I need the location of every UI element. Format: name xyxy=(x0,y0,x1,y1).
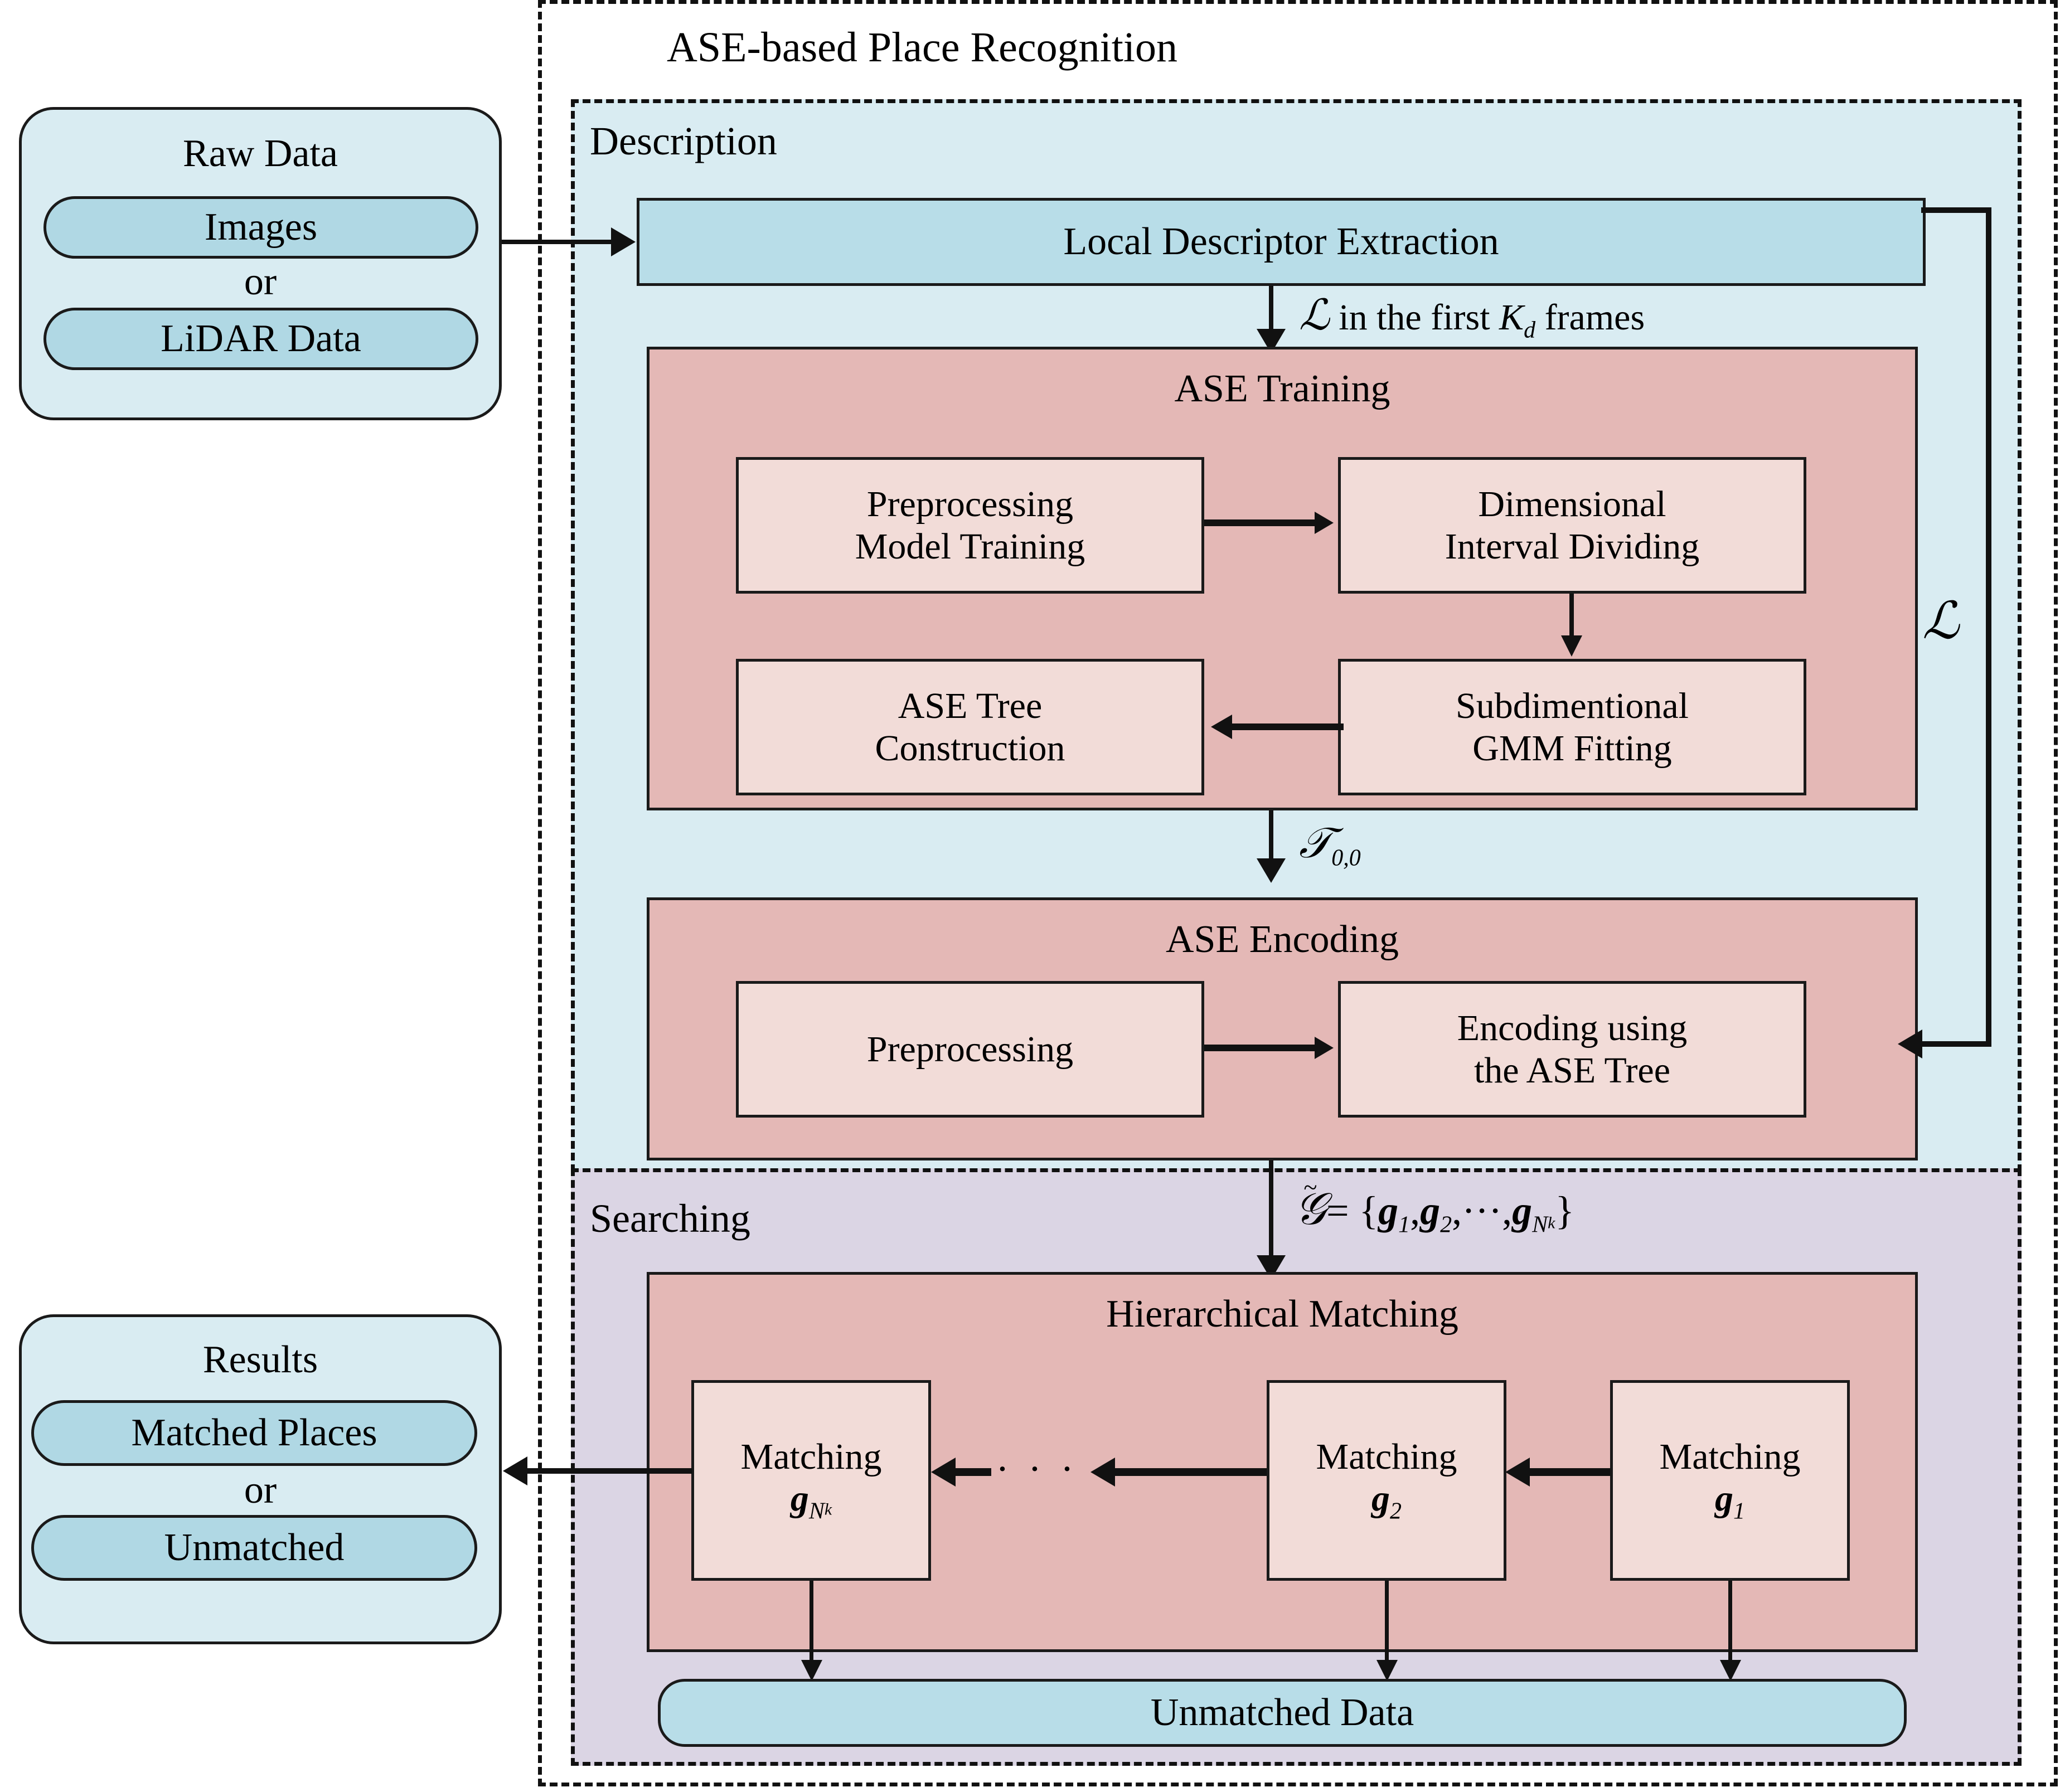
searching-panel-label: Searching xyxy=(590,1196,980,1251)
edge-ellipsis-to-gnk xyxy=(956,1468,991,1476)
edge-g2-to-unmatched xyxy=(1385,1581,1389,1670)
training-step-subdimentional-gmm-fitting[interactable]: Subdimentional GMM Fitting xyxy=(1338,659,1806,795)
raw-data-or-label: or xyxy=(19,261,502,303)
edge-training-to-encoding-arrowhead xyxy=(1257,858,1286,883)
edge-rawdata-to-lde xyxy=(502,240,612,244)
results-unmatched-pill: Unmatched xyxy=(31,1515,477,1581)
edge-label-descriptors-first-frames: ℒ in the first Kd frames xyxy=(1299,290,1645,344)
edge-lde-feedback-right xyxy=(1986,207,1991,1046)
page-title: ASE-based Place Recognition xyxy=(571,17,1273,78)
edge-g2-to-ellipsis xyxy=(1115,1468,1267,1476)
results-title: Results xyxy=(19,1333,502,1387)
edge-lde-feedback-top xyxy=(1921,207,1991,213)
edge-label-descriptors-feedback: ℒ xyxy=(1922,591,1959,650)
matching-ellipsis: · · · xyxy=(987,1444,1087,1494)
diagram-canvas: ASE-based Place Recognition Description … xyxy=(0,0,2060,1792)
matching-node-g2[interactable]: Matching g2 xyxy=(1267,1380,1506,1581)
local-descriptor-extraction-box[interactable]: Local Descriptor Extraction xyxy=(637,198,1926,286)
edge-training-1-to-2 xyxy=(1204,519,1316,526)
edge-encoding-1-to-2-arrowhead xyxy=(1315,1037,1334,1059)
edge-encoding-1-to-2 xyxy=(1204,1045,1316,1051)
edge-g1-to-unmatched-arrowhead xyxy=(1720,1660,1741,1681)
description-panel-label: Description xyxy=(590,118,980,174)
edge-matching-to-results xyxy=(527,1468,692,1474)
edge-ellipsis-to-gnk-arrowhead xyxy=(931,1458,956,1487)
results-matched-places-pill: Matched Places xyxy=(31,1400,477,1466)
edge-training-2-to-3-arrowhead xyxy=(1561,635,1582,657)
training-step-dimensional-interval-dividing[interactable]: Dimensional Interval Dividing xyxy=(1338,457,1806,594)
matching-node-gnk[interactable]: Matching gNk xyxy=(691,1380,931,1581)
script-G-icon: ~𝒢 xyxy=(1295,1184,1326,1235)
edge-lde-feedback-bottom xyxy=(1922,1041,1991,1047)
edge-label-global-descriptor-set: ~𝒢= {g1,g2,···,gNk} xyxy=(1295,1184,1574,1239)
edge-label-tree-root: 𝒯0,0 xyxy=(1299,819,1361,872)
edge-lde-feedback-arrowhead xyxy=(1898,1029,1922,1058)
ase-encoding-title: ASE Encoding xyxy=(647,912,1918,968)
edge-g1-to-g2-arrowhead xyxy=(1505,1458,1530,1487)
edge-training-1-to-2-arrowhead xyxy=(1315,512,1334,534)
edge-g1-to-g2 xyxy=(1530,1468,1610,1476)
ase-training-title: ASE Training xyxy=(647,361,1918,417)
script-L-icon: ℒ xyxy=(1299,292,1330,339)
raw-data-lidar-pill: LiDAR Data xyxy=(43,308,478,370)
edge-training-3-to-4 xyxy=(1232,723,1344,730)
matching-node-g1[interactable]: Matching g1 xyxy=(1610,1380,1850,1581)
edge-gnk-to-unmatched-arrowhead xyxy=(801,1660,822,1681)
script-L-feedback-icon: ℒ xyxy=(1922,593,1959,649)
script-T-icon: 𝒯 xyxy=(1299,820,1331,867)
edge-rawdata-to-lde-arrowhead xyxy=(611,227,636,256)
edge-gnk-to-unmatched xyxy=(810,1581,813,1670)
edge-matching-to-results-arrowhead xyxy=(503,1456,527,1485)
hierarchical-matching-title: Hierarchical Matching xyxy=(647,1286,1918,1342)
encoding-step-encoding-using-ase-tree[interactable]: Encoding using the ASE Tree xyxy=(1338,981,1806,1118)
raw-data-images-pill: Images xyxy=(43,196,478,259)
edge-g1-to-unmatched xyxy=(1728,1581,1732,1670)
edge-g2-to-unmatched-arrowhead xyxy=(1376,1660,1398,1681)
training-step-ase-tree-construction[interactable]: ASE Tree Construction xyxy=(736,659,1204,795)
results-or-label: or xyxy=(19,1469,502,1512)
edge-training-3-to-4-arrowhead xyxy=(1211,715,1232,739)
encoding-step-preprocessing[interactable]: Preprocessing xyxy=(736,981,1204,1118)
unmatched-data-box[interactable]: Unmatched Data xyxy=(658,1679,1907,1747)
description-searching-divider xyxy=(571,1168,2022,1172)
raw-data-title: Raw Data xyxy=(19,127,502,181)
edge-g2-to-ellipsis-arrowhead xyxy=(1090,1458,1115,1487)
training-step-preprocessing-model-training[interactable]: Preprocessing Model Training xyxy=(736,457,1204,594)
